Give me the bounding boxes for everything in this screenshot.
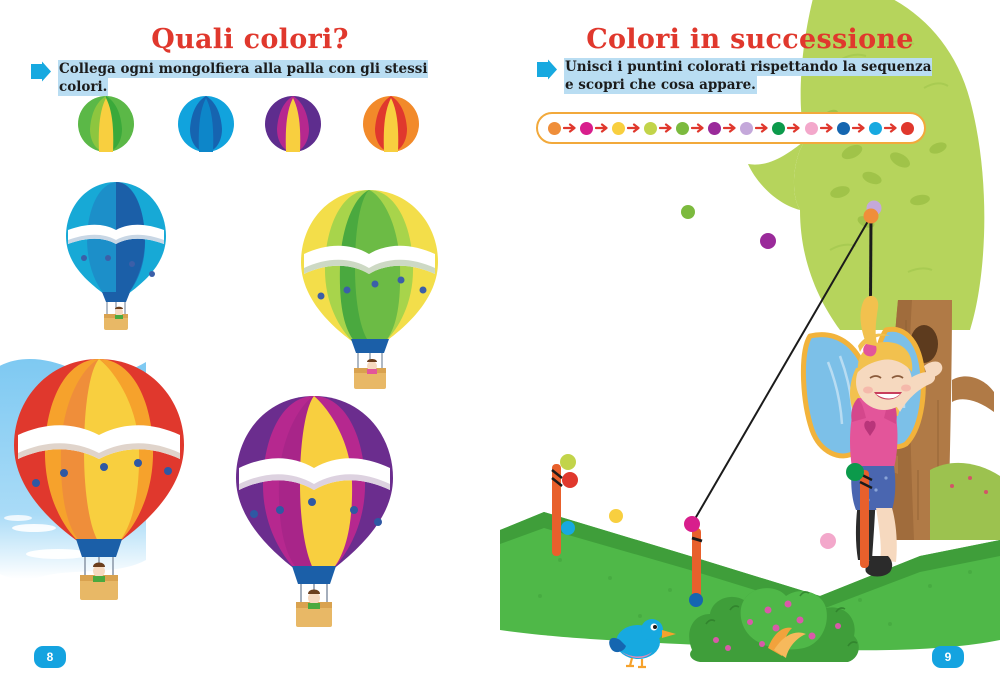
seq-dot-orange [548, 122, 561, 135]
sequence-arrow-icon [755, 122, 770, 134]
balloon-blue[interactable] [62, 178, 170, 333]
balloon-purple[interactable] [232, 392, 397, 632]
ball-purple [265, 96, 321, 152]
seq-dot-cyan [869, 122, 882, 135]
dot-cyan [561, 521, 575, 535]
sequence-arrow-icon [723, 122, 738, 134]
dot-orange [864, 209, 879, 224]
sequence-arrow-icon [787, 122, 802, 134]
instruction-left-text: Collega ogni mongolfiera alla palla con … [58, 60, 480, 96]
sequence-arrow-icon [595, 122, 610, 134]
instruction-right-line1: Unisci i puntini colorati rispettando la… [564, 58, 932, 76]
sequence-arrow-icon [659, 122, 674, 134]
seq-dot-blue-dark [837, 122, 850, 135]
page-title-left: Quali colori? [0, 24, 500, 55]
dot-magenta [684, 516, 700, 532]
left-page: Quali colori? Collega ogni mongolfiera a… [0, 0, 500, 682]
page-number-right: 9 [932, 646, 964, 668]
sequence-arrow-icon [884, 122, 899, 134]
sequence-arrow-icon [691, 122, 706, 134]
dot-to-dot-scene [500, 0, 1000, 682]
sequence-arrow-icon [563, 122, 578, 134]
balloon-orange[interactable] [10, 355, 188, 605]
instruction-right-text: Unisci i puntini colorati rispettando la… [564, 58, 932, 94]
seq-dot-green-dark [772, 122, 785, 135]
seq-dot-lavender [740, 122, 753, 135]
dot-green-light [681, 205, 695, 219]
balloon-green[interactable] [297, 186, 442, 394]
instruction-left: Collega ogni mongolfiera alla palla con … [30, 60, 480, 96]
instruction-right-line2: e scopri che cosa appare. [564, 76, 757, 94]
arrow-right-pennant-icon [536, 59, 558, 80]
book-spread: Quali colori? Collega ogni mongolfiera a… [0, 0, 1000, 682]
ball-blue [178, 96, 234, 152]
dot-lime [560, 454, 576, 470]
sequence-arrow-icon [627, 122, 642, 134]
dot-blue [689, 593, 703, 607]
seq-dot-yellow [612, 122, 625, 135]
page-number-left: 8 [34, 646, 66, 668]
seq-dot-red [901, 122, 914, 135]
sequence-arrow-icon [820, 122, 835, 134]
dot-red [562, 472, 578, 488]
ball-green [78, 96, 134, 152]
seq-dot-magenta [580, 122, 593, 135]
sequence-arrow-icon [852, 122, 867, 134]
dot-yellow [609, 509, 623, 523]
arrow-right-pennant-icon [30, 61, 52, 82]
dot-purple [760, 233, 776, 249]
color-sequence-strip [536, 112, 926, 144]
dot-pink [820, 533, 836, 549]
seq-dot-purple [708, 122, 721, 135]
seq-dot-lime [644, 122, 657, 135]
dot-green-dark [846, 463, 864, 481]
ball-row [0, 96, 500, 152]
seq-dot-green-light [676, 122, 689, 135]
seq-dot-pink [805, 122, 818, 135]
instruction-right: Unisci i puntini colorati rispettando la… [536, 58, 956, 94]
ball-red [363, 96, 419, 152]
